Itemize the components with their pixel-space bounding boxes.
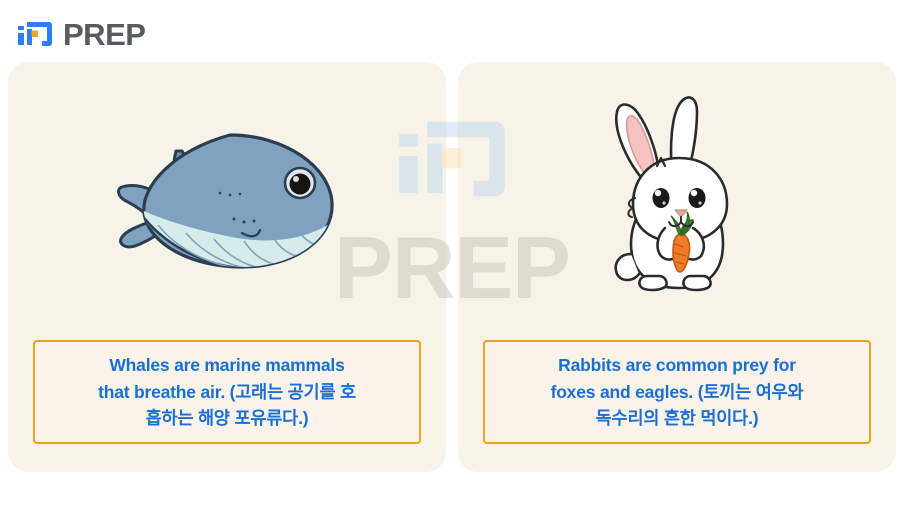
- whale-caption-box: Whales are marine mammals that breathe a…: [33, 340, 421, 444]
- caption-line: 독수리의 흔한 먹이다.): [493, 405, 861, 431]
- brand-header: PREP: [16, 12, 145, 56]
- caption-line: foxes and eagles. (토끼는 여우와: [493, 379, 861, 405]
- card-row: Whales are marine mammals that breathe a…: [8, 62, 896, 472]
- caption-line: Rabbits are common prey for: [493, 352, 861, 378]
- caption-line: Whales are marine mammals: [43, 352, 411, 378]
- caption-line: 흡하는 해양 포유류다.): [43, 405, 411, 431]
- rabbit-caption-box: Rabbits are common prey for foxes and ea…: [483, 340, 871, 444]
- caption-line: that breathe air. (고래는 공기를 호: [43, 379, 411, 405]
- whale-illustration: [8, 70, 446, 332]
- whale-card: Whales are marine mammals that breathe a…: [8, 62, 446, 472]
- rabbit-card: Rabbits are common prey for foxes and ea…: [458, 62, 896, 472]
- rabbit-illustration: [458, 70, 896, 332]
- brand-wordmark: PREP: [63, 19, 145, 50]
- prep-bracket-logo-icon: [16, 15, 54, 53]
